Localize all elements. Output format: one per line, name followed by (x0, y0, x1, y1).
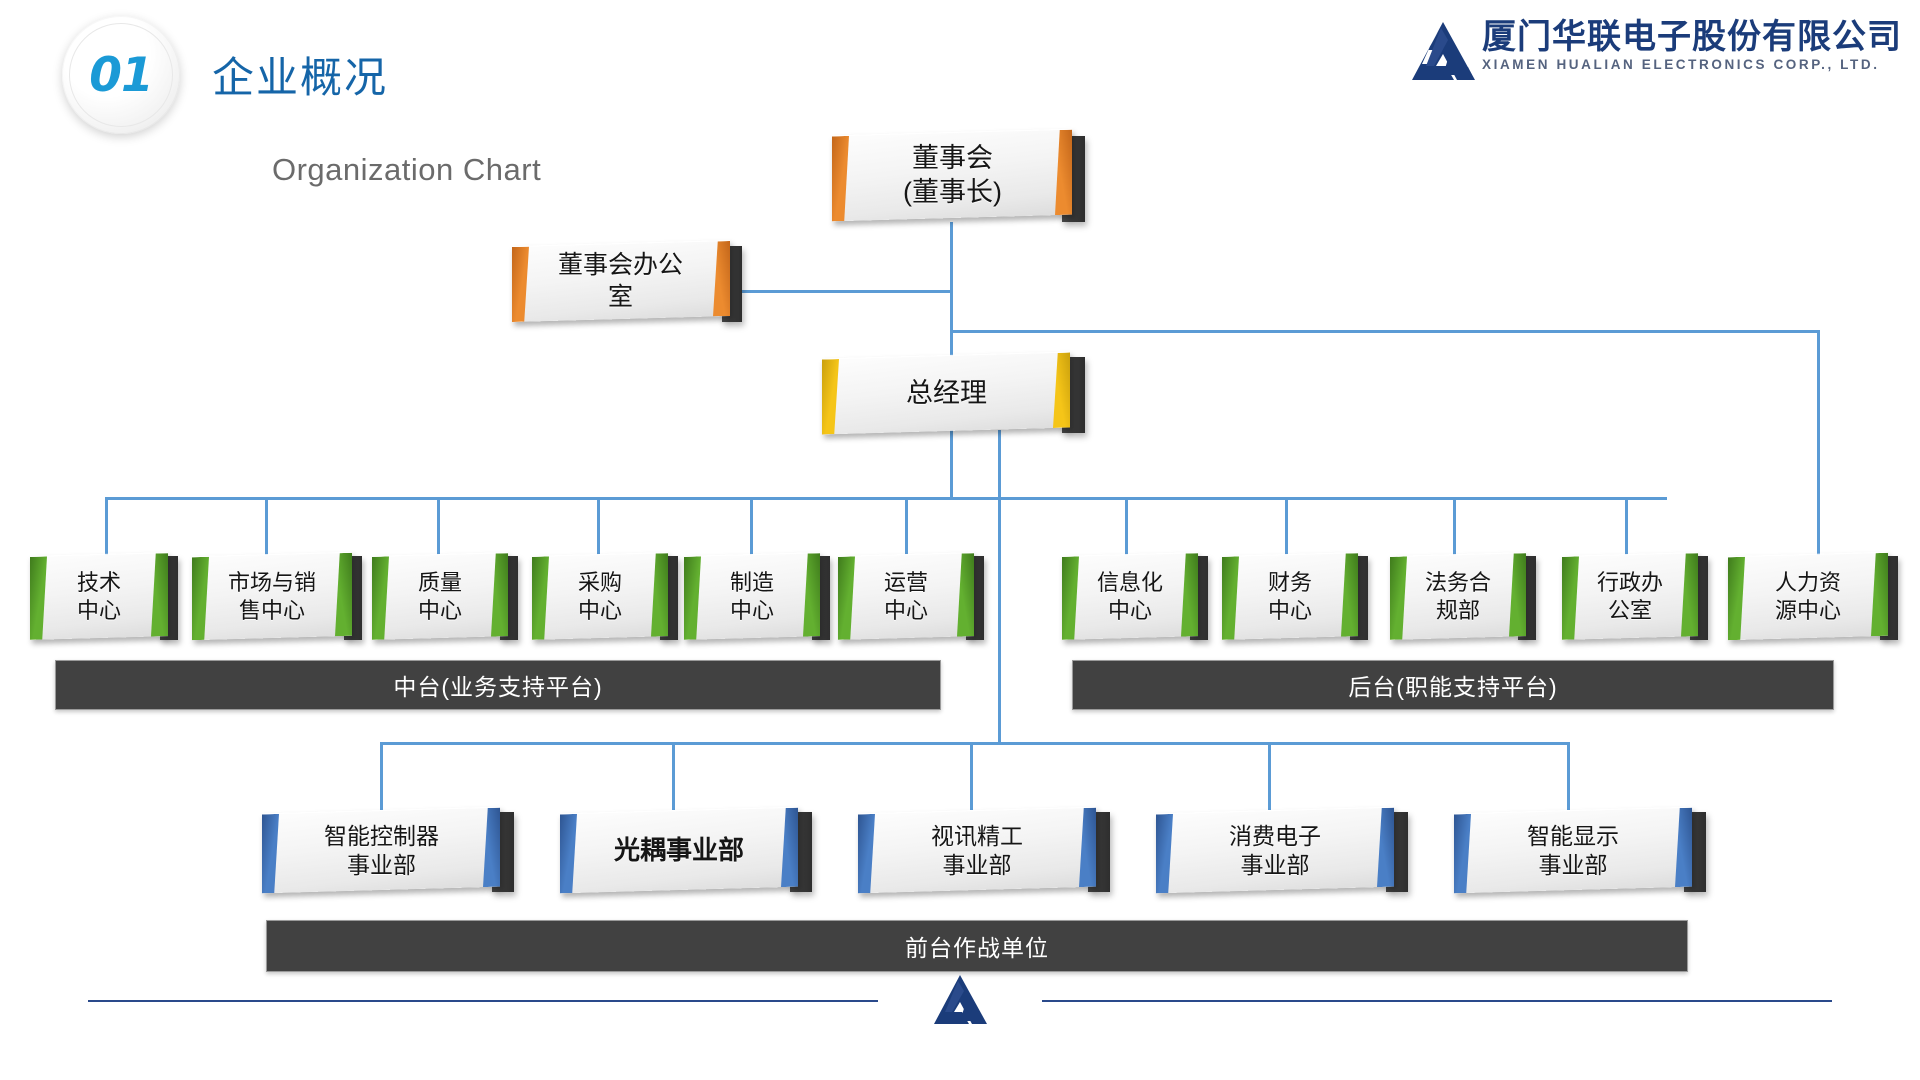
node-finance-center-label: 财务 中心 (1262, 569, 1318, 624)
logo-company-name-cn: 厦门华联电子股份有限公司 (1482, 20, 1902, 54)
connector-drop-3 (437, 497, 440, 555)
node-consumer-electronics-line-2: 事业部 (1229, 851, 1321, 880)
connector-middle-bus (105, 497, 1667, 500)
node-marketing-sales-line-2: 售中心 (228, 597, 316, 625)
banner-back-platform: 后台(职能支持平台) (1072, 660, 1834, 710)
connector-hr-drop (1817, 330, 1820, 555)
connector-drop-10 (1625, 497, 1628, 555)
node-it-center-line-1: 信息化 (1097, 569, 1163, 597)
node-gm-label: 总经理 (900, 376, 993, 410)
node-smart-controller-label: 智能控制器 事业部 (318, 822, 445, 880)
connector-gm-to-front (998, 430, 1001, 745)
node-manufacturing-center[interactable]: 制造 中心 (684, 552, 820, 640)
node-operations-center-line-1: 运营 (884, 569, 928, 597)
connector-drop-6 (905, 497, 908, 555)
connector-board-office (742, 290, 952, 293)
node-board-office-line-1: 董事会办公 (558, 250, 683, 282)
hualian-hl-logo-icon (1410, 20, 1476, 82)
node-manufacturing-center-line-1: 制造 (730, 569, 774, 597)
node-video-precision-division[interactable]: 视讯精工 事业部 (858, 807, 1096, 894)
node-finance-center-line-2: 中心 (1268, 597, 1312, 625)
node-quality-center-line-2: 中心 (418, 597, 462, 625)
node-manufacturing-center-label: 制造 中心 (724, 569, 780, 624)
node-legal-compliance-line-1: 法务合 (1425, 569, 1491, 597)
node-tech-center-line-1: 技术 (77, 569, 121, 597)
node-consumer-electronics-division[interactable]: 消费电子 事业部 (1156, 807, 1394, 894)
node-board-office-label: 董事会办公 室 (552, 250, 689, 313)
node-procurement-center-label: 采购 中心 (572, 569, 628, 624)
page-title: 企业概况 (212, 44, 388, 105)
node-procurement-center-line-1: 采购 (578, 569, 622, 597)
node-admin-office-line-1: 行政办 (1597, 569, 1663, 597)
node-board-office-line-2: 室 (558, 282, 683, 314)
node-finance-center-line-1: 财务 (1268, 569, 1312, 597)
logo-company-name-en: XIAMEN HUALIAN ELECTRONICS CORP., LTD. (1482, 58, 1902, 72)
node-legal-compliance-label: 法务合 规部 (1419, 569, 1497, 624)
node-smart-controller-line-2: 事业部 (324, 851, 439, 880)
node-board-line-2: (董事长) (903, 176, 1002, 210)
slide-canvas: 01 企业概况 Organization Chart 厦门华联电子股份有限公司 … (0, 0, 1920, 1080)
node-procurement-center[interactable]: 采购 中心 (532, 552, 668, 640)
page-subtitle: Organization Chart (272, 152, 541, 188)
node-video-precision-line-1: 视讯精工 (931, 822, 1023, 851)
node-tech-center-label: 技术 中心 (71, 569, 127, 624)
connector-drop-4 (597, 497, 600, 555)
connector-front-drop-5 (1567, 742, 1570, 810)
banner-front-platform-label: 前台作战单位 (905, 929, 1049, 963)
node-quality-center[interactable]: 质量 中心 (372, 552, 508, 640)
connector-drop-9 (1453, 497, 1456, 555)
connector-drop-7 (1125, 497, 1128, 555)
node-marketing-sales-label: 市场与销 售中心 (222, 569, 322, 624)
node-smart-display-division[interactable]: 智能显示 事业部 (1454, 807, 1692, 894)
node-board-label: 董事会 (董事长) (897, 141, 1008, 209)
node-it-center-label: 信息化 中心 (1091, 569, 1169, 624)
node-admin-office[interactable]: 行政办 公室 (1562, 552, 1698, 640)
node-hr-center-label: 人力资 源中心 (1769, 569, 1847, 624)
section-badge: 01 (62, 16, 180, 134)
node-hr-center-line-2: 源中心 (1775, 597, 1841, 625)
connector-drop-2 (265, 497, 268, 555)
node-it-center[interactable]: 信息化 中心 (1062, 552, 1198, 640)
node-smart-controller-division[interactable]: 智能控制器 事业部 (262, 807, 500, 894)
node-quality-center-label: 质量 中心 (412, 569, 468, 624)
node-optocoupler-division[interactable]: 光耦事业部 (560, 807, 798, 894)
node-tech-center-line-2: 中心 (77, 597, 121, 625)
connector-gm-stem (950, 430, 953, 500)
node-operations-center[interactable]: 运营 中心 (838, 552, 974, 640)
node-quality-center-line-1: 质量 (418, 569, 462, 597)
connector-front-drop-2 (672, 742, 675, 810)
node-smart-controller-line-1: 智能控制器 (324, 822, 439, 851)
footer-rule-left (88, 1000, 878, 1002)
connector-front-drop-4 (1268, 742, 1271, 810)
company-logo: 厦门华联电子股份有限公司 XIAMEN HUALIAN ELECTRONICS … (1410, 20, 1902, 82)
node-procurement-center-line-2: 中心 (578, 597, 622, 625)
node-marketing-sales-center[interactable]: 市场与销 售中心 (192, 552, 352, 640)
slide-footer (0, 974, 1920, 1038)
node-marketing-sales-line-1: 市场与销 (228, 569, 316, 597)
logo-text-block: 厦门华联电子股份有限公司 XIAMEN HUALIAN ELECTRONICS … (1482, 20, 1902, 72)
node-operations-center-line-2: 中心 (884, 597, 928, 625)
node-admin-office-line-2: 公室 (1597, 597, 1663, 625)
node-consumer-electronics-label: 消费电子 事业部 (1223, 822, 1327, 880)
node-manufacturing-center-line-2: 中心 (730, 597, 774, 625)
node-smart-display-label: 智能显示 事业部 (1521, 822, 1625, 880)
node-video-precision-label: 视讯精工 事业部 (925, 822, 1029, 880)
node-optocoupler-label: 光耦事业部 (608, 834, 750, 867)
connector-board-to-hr (950, 330, 1820, 333)
connector-front-bus (380, 742, 1570, 745)
node-legal-compliance-dept[interactable]: 法务合 规部 (1390, 552, 1526, 640)
node-board-office[interactable]: 董事会办公 室 (512, 240, 730, 322)
node-board-line-1: 董事会 (903, 141, 1002, 175)
banner-back-platform-label: 后台(职能支持平台) (1348, 668, 1557, 702)
footer-rule-right (1042, 1000, 1832, 1002)
node-hr-center[interactable]: 人力资 源中心 (1728, 552, 1888, 640)
node-smart-display-line-1: 智能显示 (1527, 822, 1619, 851)
badge-number: 01 (62, 16, 180, 134)
node-operations-center-label: 运营 中心 (878, 569, 934, 624)
node-legal-compliance-line-2: 规部 (1425, 597, 1491, 625)
connector-front-drop-1 (380, 742, 383, 810)
node-hr-center-line-1: 人力资 (1775, 569, 1841, 597)
connector-front-drop-3 (970, 742, 973, 810)
node-it-center-line-2: 中心 (1097, 597, 1163, 625)
node-tech-center[interactable]: 技术 中心 (30, 552, 168, 640)
node-video-precision-line-2: 事业部 (931, 851, 1023, 880)
node-gm-line-1: 总经理 (906, 376, 987, 410)
banner-front-platform: 前台作战单位 (266, 920, 1688, 972)
banner-middle-platform-label: 中台(业务支持平台) (393, 668, 602, 702)
node-admin-office-label: 行政办 公室 (1591, 569, 1669, 624)
node-board[interactable]: 董事会 (董事长) (832, 129, 1072, 222)
node-consumer-electronics-line-1: 消费电子 (1229, 822, 1321, 851)
connector-drop-5 (750, 497, 753, 555)
node-finance-center[interactable]: 财务 中心 (1222, 552, 1358, 640)
footer-hl-logo-icon (932, 974, 988, 1026)
connector-drop-1 (105, 497, 108, 555)
banner-middle-platform: 中台(业务支持平台) (55, 660, 941, 710)
node-smart-display-line-2: 事业部 (1527, 851, 1619, 880)
connector-drop-8 (1285, 497, 1288, 555)
node-general-manager[interactable]: 总经理 (822, 352, 1070, 435)
node-optocoupler-line-1: 光耦事业部 (614, 834, 744, 867)
